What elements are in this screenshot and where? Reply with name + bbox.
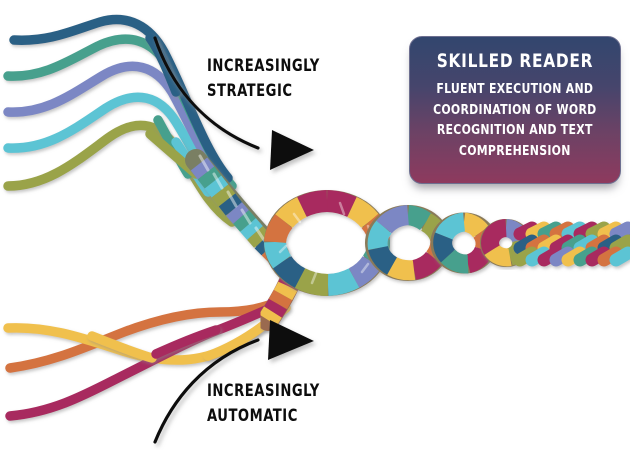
annotation-strategic-line2: STRATEGIC xyxy=(207,79,320,104)
loop-3-twists xyxy=(443,222,485,264)
braid-twist-segments xyxy=(520,228,628,260)
callout-title: SKILLED READER xyxy=(437,50,593,72)
arrow-strategic-head xyxy=(270,130,314,170)
annotation-automatic-line2: AUTOMATIC xyxy=(207,404,320,429)
callout-body-line-3: RECOGNITION AND TEXT xyxy=(433,120,596,141)
rope-tight-braid xyxy=(520,226,630,260)
lower-crossing-b xyxy=(156,330,216,354)
loop-1-twists xyxy=(275,201,379,285)
callout-body: FLUENT EXECUTION AND COORDINATION OF WOR… xyxy=(428,79,602,161)
callout-body-line-1: FLUENT EXECUTION AND xyxy=(433,79,596,100)
rope-loop-1 xyxy=(275,201,379,285)
upper-strand-group xyxy=(8,20,236,222)
skilled-reader-callout: SKILLED READER FLUENT EXECUTION AND COOR… xyxy=(409,36,621,184)
diagram-canvas: INCREASINGLY STRATEGIC INCREASINGLY AUTO… xyxy=(0,0,630,450)
annotation-increasingly-strategic: INCREASINGLY STRATEGIC xyxy=(207,54,320,103)
annotation-strategic-line1: INCREASINGLY xyxy=(207,54,320,79)
callout-body-line-2: COORDINATION OF WORD xyxy=(433,100,596,121)
annotation-increasingly-automatic: INCREASINGLY AUTOMATIC xyxy=(207,379,320,428)
callout-body-line-4: COMPREHENSION xyxy=(433,141,596,162)
arrow-automatic-head xyxy=(268,320,314,360)
annotation-automatic-line1: INCREASINGLY xyxy=(207,379,320,404)
